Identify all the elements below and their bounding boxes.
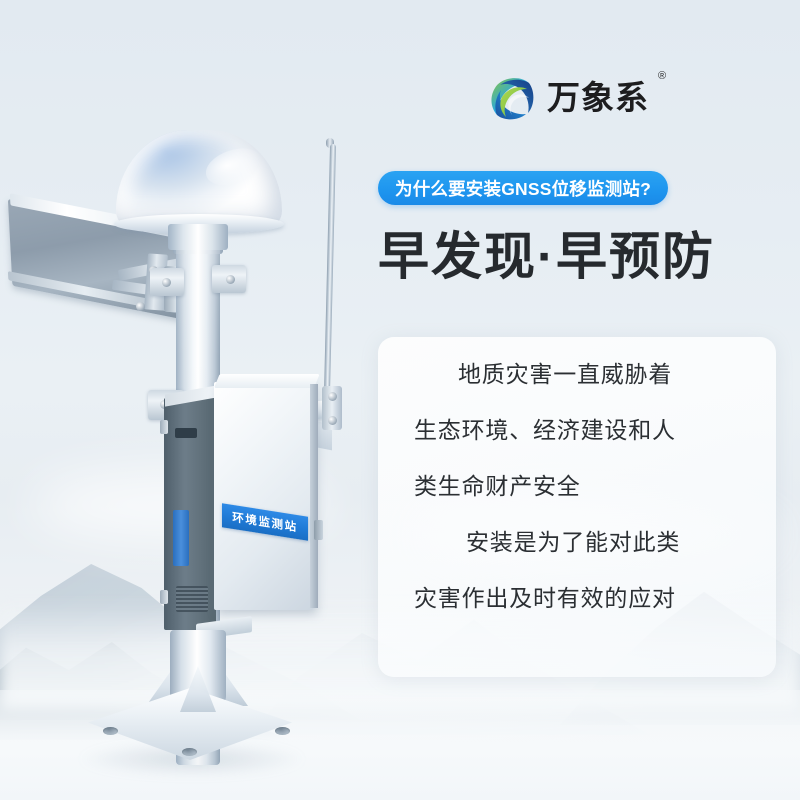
- poster-canvas: 环境监测站: [0, 0, 800, 800]
- question-badge[interactable]: 为什么要安装GNSS位移监测站?: [378, 171, 668, 205]
- description-line: 地质灾害一直威胁着: [400, 363, 754, 386]
- description-line: 类生命财产安全: [400, 475, 754, 498]
- globe-swoosh-logo-icon: [486, 71, 538, 123]
- question-badge-text: 为什么要安装GNSS位移监测站?: [395, 176, 651, 201]
- description-line: 安装是为了能对此类: [400, 531, 754, 554]
- description-card: 地质灾害一直威胁着 生态环境、经济建设和人 类生命财产安全 安装是为了能对此类 …: [378, 337, 776, 677]
- description-line: 生态环境、经济建设和人: [400, 419, 754, 442]
- brand-name: 万象系: [547, 81, 649, 114]
- registered-trademark-mark: ®: [658, 70, 666, 82]
- content-column: 万象系 ® 为什么要安装GNSS位移监测站? 早发现·早预防 地质灾害一直威胁着…: [0, 0, 800, 800]
- brand-logo-row: 万象系 ®: [486, 66, 706, 128]
- page-title: 早发现·早预防: [378, 228, 778, 285]
- description-line: 灾害作出及时有效的应对: [400, 587, 754, 610]
